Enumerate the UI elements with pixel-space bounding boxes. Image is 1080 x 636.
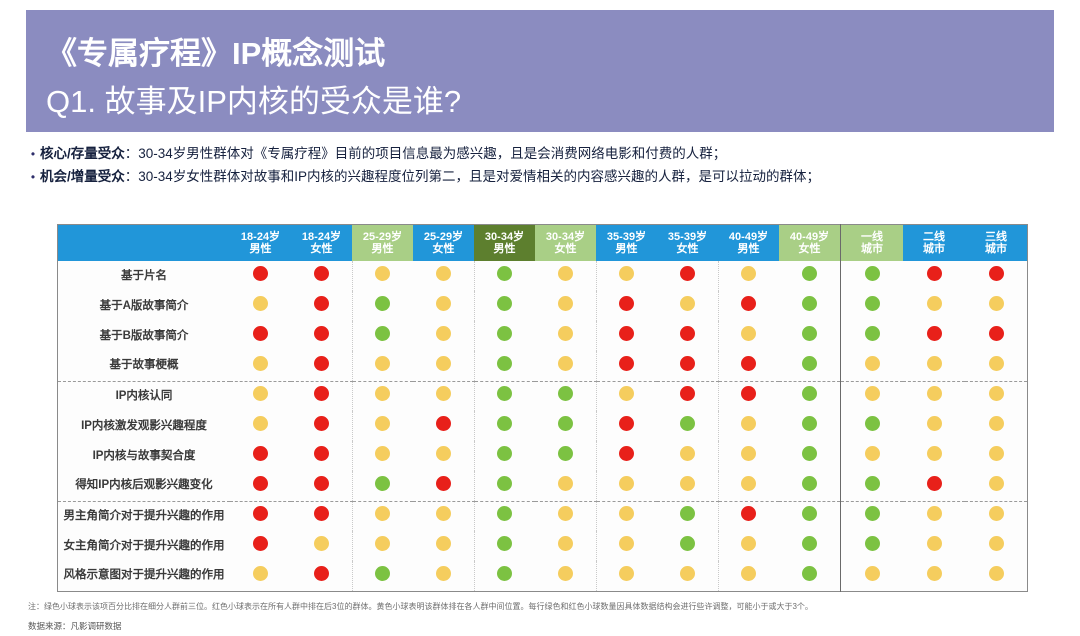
yellow-dot-icon	[436, 386, 451, 401]
green-dot-icon	[865, 506, 880, 521]
yellow-dot-icon	[314, 536, 329, 551]
green-dot-icon	[497, 416, 512, 431]
red-dot-icon	[741, 356, 756, 371]
red-dot-icon	[253, 506, 268, 521]
matrix-cell	[903, 291, 965, 321]
matrix-cell	[841, 531, 904, 561]
yellow-dot-icon	[927, 386, 942, 401]
red-dot-icon	[741, 506, 756, 521]
matrix-cell	[596, 441, 657, 471]
yellow-dot-icon	[741, 476, 756, 491]
row-label: IP内核激发观影兴趣程度	[58, 411, 231, 441]
matrix-cell	[352, 411, 413, 441]
red-dot-icon	[314, 296, 329, 311]
table-row: 风格示意图对于提升兴趣的作用	[58, 561, 1028, 591]
yellow-dot-icon	[558, 566, 573, 581]
matrix-cell	[718, 321, 779, 351]
matrix-cell	[965, 351, 1028, 381]
bullet-text: 机会/增量受众：30-34岁女性群体对故事和IP内核的兴趣程度位列第二，且是对爱…	[40, 167, 1056, 187]
matrix-cell	[291, 531, 352, 561]
red-dot-icon	[989, 266, 1004, 281]
col-header-line2: 女性	[779, 243, 840, 255]
yellow-dot-icon	[927, 536, 942, 551]
yellow-dot-icon	[865, 446, 880, 461]
matrix-cell	[352, 351, 413, 381]
yellow-dot-icon	[989, 416, 1004, 431]
matrix-cell	[474, 501, 535, 531]
yellow-dot-icon	[253, 386, 268, 401]
header-banner: 《专属疗程》IP概念测试 Q1. 故事及IP内核的受众是谁?	[26, 10, 1054, 132]
matrix-cell	[903, 441, 965, 471]
matrix-cell	[352, 471, 413, 501]
row-label: 基于B版故事简介	[58, 321, 231, 351]
table-row: 基于故事梗概	[58, 351, 1028, 381]
yellow-dot-icon	[436, 356, 451, 371]
table-row: 得知IP内核后观影兴趣变化	[58, 471, 1028, 501]
matrix-cell	[474, 261, 535, 291]
red-dot-icon	[741, 296, 756, 311]
yellow-dot-icon	[619, 506, 634, 521]
red-dot-icon	[314, 326, 329, 341]
yellow-dot-icon	[989, 566, 1004, 581]
red-dot-icon	[314, 266, 329, 281]
col-header-line2: 男性	[474, 243, 535, 255]
red-dot-icon	[680, 326, 695, 341]
matrix-cell	[535, 321, 596, 351]
matrix-cell	[779, 471, 841, 501]
matrix-cell	[718, 471, 779, 501]
matrix-cell	[841, 381, 904, 411]
red-dot-icon	[619, 446, 634, 461]
red-dot-icon	[314, 386, 329, 401]
green-dot-icon	[558, 416, 573, 431]
table-col-header-5: 30-34岁女性	[535, 225, 596, 262]
matrix-cell	[657, 291, 718, 321]
matrix-cell	[779, 381, 841, 411]
matrix-cell	[841, 321, 904, 351]
table-col-header-9: 40-49岁女性	[779, 225, 841, 262]
yellow-dot-icon	[375, 506, 390, 521]
matrix-cell	[413, 291, 474, 321]
yellow-dot-icon	[558, 266, 573, 281]
row-label: 得知IP内核后观影兴趣变化	[58, 471, 231, 501]
matrix-cell	[779, 561, 841, 591]
red-dot-icon	[314, 506, 329, 521]
matrix-cell	[657, 561, 718, 591]
matrix-cell	[291, 351, 352, 381]
red-dot-icon	[619, 356, 634, 371]
matrix-cell	[779, 291, 841, 321]
matrix-cell	[657, 261, 718, 291]
green-dot-icon	[497, 536, 512, 551]
matrix-cell	[965, 561, 1028, 591]
col-header-line2: 男性	[352, 243, 413, 255]
matrix-cell	[596, 411, 657, 441]
matrix-cell	[841, 471, 904, 501]
matrix-cell	[657, 321, 718, 351]
matrix-cell	[352, 501, 413, 531]
green-dot-icon	[865, 266, 880, 281]
col-header-line1: 一线	[841, 231, 903, 243]
matrix-cell	[230, 561, 291, 591]
audience-matrix-table: 18-24岁男性18-24岁女性25-29岁男性25-29岁女性30-34岁男性…	[57, 224, 1028, 592]
matrix-cell	[718, 531, 779, 561]
yellow-dot-icon	[375, 266, 390, 281]
table-row: 男主角简介对于提升兴趣的作用	[58, 501, 1028, 531]
yellow-dot-icon	[558, 506, 573, 521]
matrix-cell	[779, 321, 841, 351]
matrix-cell	[291, 471, 352, 501]
matrix-cell	[596, 381, 657, 411]
yellow-dot-icon	[375, 536, 390, 551]
yellow-dot-icon	[741, 266, 756, 281]
yellow-dot-icon	[558, 356, 573, 371]
red-dot-icon	[619, 296, 634, 311]
col-header-line1: 18-24岁	[291, 231, 352, 243]
matrix-cell	[413, 321, 474, 351]
matrix-cell	[903, 471, 965, 501]
yellow-dot-icon	[619, 266, 634, 281]
table-header-row: 18-24岁男性18-24岁女性25-29岁男性25-29岁女性30-34岁男性…	[58, 225, 1028, 262]
green-dot-icon	[375, 566, 390, 581]
yellow-dot-icon	[989, 386, 1004, 401]
col-header-line1: 25-29岁	[413, 231, 474, 243]
matrix-cell	[965, 441, 1028, 471]
table-row: 基于A版故事简介	[58, 291, 1028, 321]
green-dot-icon	[802, 566, 817, 581]
red-dot-icon	[314, 566, 329, 581]
green-dot-icon	[497, 266, 512, 281]
matrix-cell	[291, 561, 352, 591]
matrix-cell	[413, 351, 474, 381]
yellow-dot-icon	[619, 566, 634, 581]
matrix-cell	[718, 501, 779, 531]
col-header-line2: 女性	[535, 243, 596, 255]
yellow-dot-icon	[989, 446, 1004, 461]
green-dot-icon	[680, 416, 695, 431]
matrix-cell	[596, 531, 657, 561]
table-col-header-11: 二线城市	[903, 225, 965, 262]
row-label: 基于A版故事简介	[58, 291, 231, 321]
red-dot-icon	[253, 326, 268, 341]
yellow-dot-icon	[927, 566, 942, 581]
matrix-cell	[413, 381, 474, 411]
yellow-dot-icon	[436, 446, 451, 461]
matrix-cell	[779, 411, 841, 441]
table-col-header-12: 三线城市	[965, 225, 1028, 262]
col-header-line1: 35-39岁	[596, 231, 657, 243]
yellow-dot-icon	[436, 326, 451, 341]
red-dot-icon	[927, 326, 942, 341]
matrix-cell	[596, 351, 657, 381]
matrix-cell	[657, 441, 718, 471]
matrix-cell	[718, 351, 779, 381]
matrix-cell	[535, 531, 596, 561]
row-label: 基于片名	[58, 261, 231, 291]
green-dot-icon	[802, 266, 817, 281]
red-dot-icon	[253, 446, 268, 461]
row-label: IP内核与故事契合度	[58, 441, 231, 471]
green-dot-icon	[497, 386, 512, 401]
yellow-dot-icon	[436, 506, 451, 521]
red-dot-icon	[436, 476, 451, 491]
matrix-cell	[718, 291, 779, 321]
col-header-line2: 女性	[291, 243, 352, 255]
yellow-dot-icon	[375, 446, 390, 461]
matrix-cell	[230, 531, 291, 561]
row-label: IP内核认同	[58, 381, 231, 411]
matrix-cell	[965, 291, 1028, 321]
matrix-cell	[535, 411, 596, 441]
matrix-cell	[718, 561, 779, 591]
yellow-dot-icon	[927, 356, 942, 371]
matrix-cell	[965, 321, 1028, 351]
matrix-cell	[352, 261, 413, 291]
red-dot-icon	[253, 536, 268, 551]
col-header-line1: 二线	[903, 231, 965, 243]
matrix-cell	[352, 531, 413, 561]
yellow-dot-icon	[927, 296, 942, 311]
green-dot-icon	[865, 416, 880, 431]
red-dot-icon	[314, 416, 329, 431]
bullet-lead: 机会/增量受众	[40, 169, 125, 184]
matrix-cell	[657, 501, 718, 531]
yellow-dot-icon	[375, 386, 390, 401]
green-dot-icon	[802, 506, 817, 521]
red-dot-icon	[680, 356, 695, 371]
col-header-line2: 城市	[841, 243, 903, 255]
red-dot-icon	[680, 386, 695, 401]
matrix-cell	[413, 531, 474, 561]
matrix-cell	[596, 561, 657, 591]
matrix-cell	[291, 381, 352, 411]
yellow-dot-icon	[865, 356, 880, 371]
yellow-dot-icon	[989, 506, 1004, 521]
matrix-cell	[779, 501, 841, 531]
table-row: 女主角简介对于提升兴趣的作用	[58, 531, 1028, 561]
yellow-dot-icon	[253, 566, 268, 581]
green-dot-icon	[865, 296, 880, 311]
source-note: 数据来源：凡影调研数据	[28, 620, 122, 632]
green-dot-icon	[375, 476, 390, 491]
matrix-cell	[596, 261, 657, 291]
red-dot-icon	[314, 476, 329, 491]
yellow-dot-icon	[619, 536, 634, 551]
yellow-dot-icon	[680, 476, 695, 491]
matrix-cell	[535, 471, 596, 501]
green-dot-icon	[802, 536, 817, 551]
yellow-dot-icon	[741, 446, 756, 461]
bullet-list: •核心/存量受众：30-34岁男性群体对《专属疗程》目前的项目信息最为感兴趣，且…	[26, 144, 1056, 190]
green-dot-icon	[497, 566, 512, 581]
yellow-dot-icon	[865, 386, 880, 401]
matrix-cell	[596, 321, 657, 351]
yellow-dot-icon	[253, 416, 268, 431]
matrix-cell	[657, 471, 718, 501]
green-dot-icon	[497, 326, 512, 341]
yellow-dot-icon	[680, 446, 695, 461]
matrix-cell	[230, 291, 291, 321]
bullet-text: 核心/存量受众：30-34岁男性群体对《专属疗程》目前的项目信息最为感兴趣，且是…	[40, 144, 1056, 164]
yellow-dot-icon	[741, 416, 756, 431]
matrix-cell	[352, 381, 413, 411]
matrix-cell	[413, 471, 474, 501]
matrix-cell	[291, 441, 352, 471]
matrix-cell	[291, 261, 352, 291]
yellow-dot-icon	[558, 536, 573, 551]
row-label: 基于故事梗概	[58, 351, 231, 381]
row-label: 女主角简介对于提升兴趣的作用	[58, 531, 231, 561]
page-title: 《专属疗程》IP概念测试	[46, 28, 385, 73]
matrix-cell	[965, 411, 1028, 441]
matrix-cell	[903, 261, 965, 291]
yellow-dot-icon	[680, 566, 695, 581]
col-header-line1: 25-29岁	[352, 231, 413, 243]
table-header: 18-24岁男性18-24岁女性25-29岁男性25-29岁女性30-34岁男性…	[58, 225, 1028, 262]
matrix-cell	[230, 441, 291, 471]
matrix-cell	[291, 291, 352, 321]
yellow-dot-icon	[680, 296, 695, 311]
yellow-dot-icon	[927, 506, 942, 521]
matrix-cell	[535, 261, 596, 291]
matrix-cell	[718, 261, 779, 291]
green-dot-icon	[497, 446, 512, 461]
table-col-header-2: 25-29岁男性	[352, 225, 413, 262]
matrix-cell	[965, 531, 1028, 561]
yellow-dot-icon	[436, 296, 451, 311]
bullet-marker-icon: •	[26, 144, 40, 164]
green-dot-icon	[497, 506, 512, 521]
bullet-body: ：30-34岁男性群体对《专属疗程》目前的项目信息最为感兴趣，且是会消费网络电影…	[125, 146, 727, 161]
green-dot-icon	[802, 446, 817, 461]
matrix-cell	[718, 381, 779, 411]
matrix-cell	[903, 381, 965, 411]
footnote-text: 注：绿色小球表示该项百分比排在细分人群前三位。红色小球表示在所有人群中排在后3位…	[28, 601, 1068, 612]
yellow-dot-icon	[253, 296, 268, 311]
col-header-line2: 女性	[657, 243, 718, 255]
green-dot-icon	[802, 386, 817, 401]
green-dot-icon	[558, 446, 573, 461]
red-dot-icon	[619, 326, 634, 341]
green-dot-icon	[375, 326, 390, 341]
matrix-cell	[352, 441, 413, 471]
matrix-cell	[230, 381, 291, 411]
col-header-line2: 男性	[718, 243, 779, 255]
matrix-cell	[535, 291, 596, 321]
bullet-item: •核心/存量受众：30-34岁男性群体对《专属疗程》目前的项目信息最为感兴趣，且…	[26, 144, 1056, 164]
table-col-header-0: 18-24岁男性	[230, 225, 291, 262]
matrix-cell	[230, 471, 291, 501]
matrix-cell	[657, 531, 718, 561]
yellow-dot-icon	[436, 536, 451, 551]
matrix-cell	[413, 411, 474, 441]
matrix-cell	[841, 501, 904, 531]
yellow-dot-icon	[375, 416, 390, 431]
bullet-marker-icon: •	[26, 167, 40, 187]
col-header-line1: 30-34岁	[474, 231, 535, 243]
page-subtitle: Q1. 故事及IP内核的受众是谁?	[46, 76, 461, 121]
green-dot-icon	[865, 536, 880, 551]
matrix-cell	[779, 531, 841, 561]
table-col-header-10: 一线城市	[841, 225, 904, 262]
matrix-cell	[352, 561, 413, 591]
matrix-cell	[903, 501, 965, 531]
col-header-line1: 三线	[965, 231, 1027, 243]
col-header-line1: 18-24岁	[230, 231, 291, 243]
matrix-cell	[596, 471, 657, 501]
yellow-dot-icon	[558, 296, 573, 311]
col-header-line2: 城市	[965, 243, 1027, 255]
red-dot-icon	[741, 386, 756, 401]
yellow-dot-icon	[989, 476, 1004, 491]
col-header-line2: 男性	[230, 243, 291, 255]
green-dot-icon	[802, 416, 817, 431]
matrix-cell	[230, 261, 291, 291]
matrix-cell	[903, 321, 965, 351]
bullet-item: •机会/增量受众：30-34岁女性群体对故事和IP内核的兴趣程度位列第二，且是对…	[26, 167, 1056, 187]
matrix-cell	[535, 351, 596, 381]
matrix-cell	[474, 351, 535, 381]
matrix-cell	[841, 261, 904, 291]
red-dot-icon	[927, 266, 942, 281]
green-dot-icon	[802, 476, 817, 491]
matrix-cell	[474, 531, 535, 561]
red-dot-icon	[253, 476, 268, 491]
bullet-body: ：30-34岁女性群体对故事和IP内核的兴趣程度位列第二，且是对爱情相关的内容感…	[125, 169, 820, 184]
yellow-dot-icon	[558, 476, 573, 491]
red-dot-icon	[436, 416, 451, 431]
red-dot-icon	[314, 356, 329, 371]
matrix-cell	[535, 561, 596, 591]
matrix-cell	[718, 441, 779, 471]
red-dot-icon	[680, 266, 695, 281]
yellow-dot-icon	[619, 476, 634, 491]
green-dot-icon	[865, 476, 880, 491]
table-row: 基于B版故事简介	[58, 321, 1028, 351]
yellow-dot-icon	[989, 296, 1004, 311]
bullet-lead: 核心/存量受众	[40, 146, 125, 161]
matrix-cell	[965, 261, 1028, 291]
matrix-cell	[657, 411, 718, 441]
col-header-line1: 35-39岁	[657, 231, 718, 243]
matrix-cell	[535, 381, 596, 411]
table-row: 基于片名	[58, 261, 1028, 291]
green-dot-icon	[558, 386, 573, 401]
col-header-line2: 男性	[596, 243, 657, 255]
red-dot-icon	[989, 326, 1004, 341]
yellow-dot-icon	[619, 386, 634, 401]
matrix-cell	[474, 381, 535, 411]
red-dot-icon	[314, 446, 329, 461]
matrix-cell	[474, 411, 535, 441]
col-header-line1: 40-49岁	[779, 231, 840, 243]
matrix-cell	[841, 291, 904, 321]
table-col-header-3: 25-29岁女性	[413, 225, 474, 262]
table-body: 基于片名基于A版故事简介基于B版故事简介基于故事梗概IP内核认同IP内核激发观影…	[58, 261, 1028, 591]
yellow-dot-icon	[865, 566, 880, 581]
table-row: IP内核与故事契合度	[58, 441, 1028, 471]
matrix-cell	[841, 441, 904, 471]
matrix-cell	[352, 321, 413, 351]
red-dot-icon	[619, 416, 634, 431]
green-dot-icon	[497, 476, 512, 491]
green-dot-icon	[497, 296, 512, 311]
col-header-line2: 城市	[903, 243, 965, 255]
yellow-dot-icon	[558, 326, 573, 341]
matrix-cell	[413, 261, 474, 291]
col-header-line1: 30-34岁	[535, 231, 596, 243]
green-dot-icon	[802, 326, 817, 341]
